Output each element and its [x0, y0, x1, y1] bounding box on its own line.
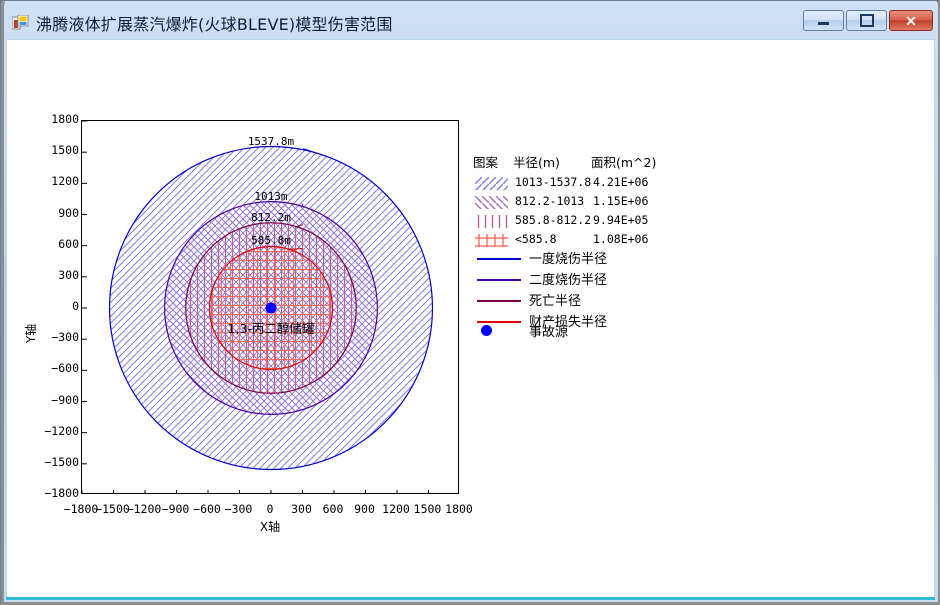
y-tick-label: 1800 — [33, 112, 79, 126]
legend-line-row: 一度烧伤半径 — [473, 248, 713, 269]
legend-row: 585.8-812.29.94E+05 — [473, 212, 713, 231]
legend-line-row: 二度烧伤半径 — [473, 269, 713, 290]
legend-pattern-swatch — [475, 177, 508, 190]
legend-line-swatch — [477, 258, 521, 260]
legend-row: 1013-1537.84.21E+06 — [473, 174, 713, 193]
circle-radius-label: 812.2m — [239, 211, 303, 224]
legend-line-swatch — [477, 300, 521, 302]
circle-radius-label: 1537.8m — [239, 135, 303, 148]
accident-source-marker — [266, 303, 277, 314]
legend-line-label: 二度烧伤半径 — [529, 269, 607, 288]
legend-radius-text: 1013-1537.8 — [515, 175, 591, 189]
bottom-accent-bar — [6, 597, 935, 600]
y-tick-label: −600 — [33, 361, 79, 375]
legend-area-text: 4.21E+06 — [593, 175, 648, 189]
legend-line-row: 死亡半径 — [473, 290, 713, 311]
title-bar: 沸腾液体扩展蒸汽爆炸(火球BLEVE)模型伤害范围 ✕ — [1, 1, 940, 41]
close-button[interactable]: ✕ — [889, 10, 933, 31]
y-tick-label: 300 — [33, 268, 79, 282]
y-tick-label: 1500 — [33, 143, 79, 157]
legend-table: 图案 半径(m) 面积(m^2) 1013-1537.84.21E+06812.… — [473, 152, 713, 250]
close-icon: ✕ — [890, 11, 932, 30]
legend-header-radius: 半径(m) — [513, 152, 560, 171]
legend-line-label: 一度烧伤半径 — [529, 248, 607, 267]
y-tick-label: −1500 — [33, 455, 79, 469]
window-title: 沸腾液体扩展蒸汽爆炸(火球BLEVE)模型伤害范围 — [36, 11, 393, 35]
legend-row: 812.2-10131.15E+06 — [473, 193, 713, 212]
maximize-button[interactable] — [846, 10, 887, 31]
plot-area: 1537.8m1013m812.2m585.8m1,3-丙二醇储罐 — [81, 120, 459, 494]
y-axis-label: Y轴 — [22, 324, 39, 343]
legend-line-label: 死亡半径 — [529, 290, 581, 309]
x-axis-label: X轴 — [81, 518, 459, 535]
form-icon — [12, 15, 29, 30]
maximize-icon — [847, 11, 886, 30]
application-window: 沸腾液体扩展蒸汽爆炸(火球BLEVE)模型伤害范围 ✕ 180015001200… — [0, 0, 940, 604]
accident-source-icon — [481, 325, 492, 336]
legend-pattern-swatch — [475, 215, 508, 228]
circle-radius-label: 1013m — [239, 190, 303, 203]
legend-radius-text: 812.2-1013 — [515, 194, 584, 208]
legend-pattern-swatch — [475, 196, 508, 209]
y-tick-label: 600 — [33, 237, 79, 251]
legend-area-text: 1.15E+06 — [593, 194, 648, 208]
circles-svg — [82, 121, 459, 494]
legend-line-swatch — [477, 279, 521, 281]
legend-rows: 1013-1537.84.21E+06812.2-10131.15E+06585… — [473, 174, 713, 250]
legend-radius-text: <585.8 — [515, 232, 557, 246]
accident-source-label: 事故源 — [529, 321, 568, 340]
legend-pattern-swatch — [475, 234, 508, 247]
damage-range-chart: 1800150012009006003000−300−600−900−1200−… — [7, 40, 936, 600]
legend-line-entries: 一度烧伤半径二度烧伤半径死亡半径财产损失半径 — [473, 248, 713, 332]
circle-label-leader — [302, 204, 303, 207]
legend-area-text: 9.94E+05 — [593, 213, 648, 227]
y-tick-label: 900 — [33, 206, 79, 220]
y-axis-ticks: 1800150012009006003000−300−600−900−1200−… — [27, 120, 79, 494]
y-tick-label: −1800 — [33, 486, 79, 500]
circle-radius-label: 585.8m — [239, 234, 303, 247]
legend-header-area: 面积(m^2) — [591, 152, 656, 171]
minimize-button[interactable] — [803, 10, 844, 31]
y-tick-label: −1200 — [33, 424, 79, 438]
legend-area-text: 1.08E+06 — [593, 232, 648, 246]
y-tick-label: 0 — [33, 299, 79, 313]
tank-name-label: 1,3-丙二醇储罐 — [215, 318, 327, 337]
legend-header-pattern: 图案 — [473, 152, 498, 171]
y-tick-label: 1200 — [33, 174, 79, 188]
client-area: 1800150012009006003000−300−600−900−1200−… — [6, 39, 935, 599]
legend-header-row: 图案 半径(m) 面积(m^2) — [473, 152, 713, 174]
minimize-icon — [804, 11, 843, 30]
y-tick-label: −300 — [33, 330, 79, 344]
x-axis-ticks: −1800−1500−1200−900−600−3000300600900120… — [81, 498, 459, 518]
y-tick-label: −900 — [33, 393, 79, 407]
x-tick-label: 1800 — [431, 502, 487, 516]
legend-source-entry: 事故源 — [473, 321, 713, 343]
legend-radius-text: 585.8-812.2 — [515, 213, 591, 227]
